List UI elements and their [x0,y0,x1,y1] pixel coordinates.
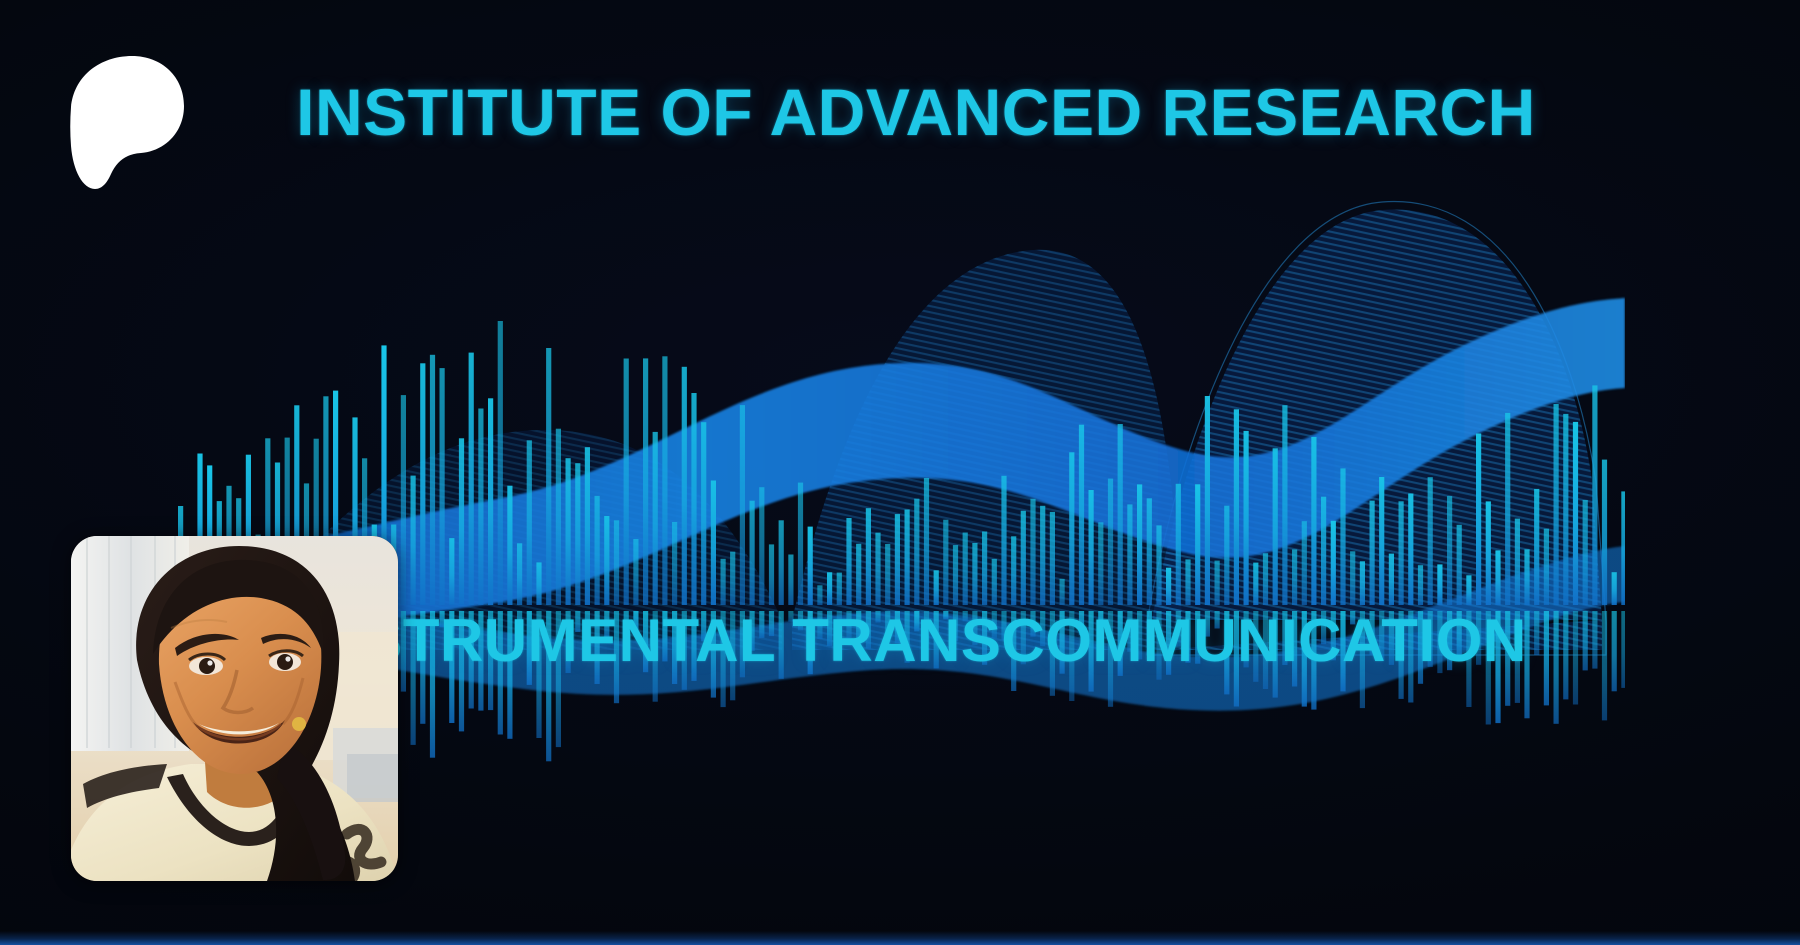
webcam-self-view[interactable] [71,536,398,881]
presentation-stage: INSTITUTE OF ADVANCED RESEARCH INSTRUMEN… [0,0,1800,945]
patreon-logo-icon[interactable] [70,54,184,190]
